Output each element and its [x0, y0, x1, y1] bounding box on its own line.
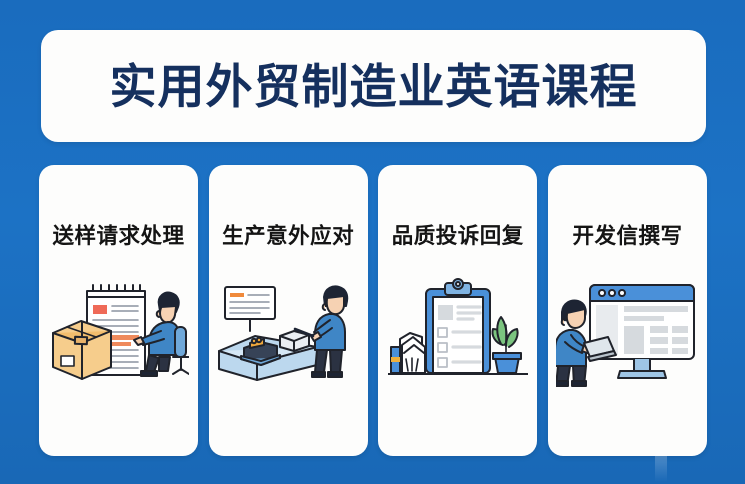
envelope-icon — [400, 333, 425, 373]
quality-complaint-illustration — [378, 273, 537, 388]
course-card-title: 开发信撰写 — [548, 219, 707, 250]
header-card: 实用外贸制造业英语课程 — [41, 30, 706, 142]
course-card-sample-request[interactable]: 送样请求处理 — [39, 165, 198, 456]
course-card-title: 生产意外应对 — [209, 219, 368, 250]
cardboard-box-icon — [53, 321, 111, 379]
clipboard-checklist-icon — [426, 279, 490, 373]
book-icon — [391, 347, 400, 373]
course-card-title: 品质投诉回复 — [378, 219, 537, 250]
sample-request-illustration — [39, 273, 198, 388]
page-title: 实用外贸制造业英语课程 — [110, 63, 638, 110]
course-module-list: 送样请求处理 — [39, 165, 707, 456]
watermark-artifact — [655, 452, 667, 482]
desktop-monitor-icon — [590, 285, 694, 378]
potted-plant-icon — [492, 317, 521, 373]
course-card-quality-complaint[interactable]: 品质投诉回复 — [378, 165, 537, 456]
production-incident-illustration — [209, 273, 368, 388]
course-card-production-incident[interactable]: 生产意外应对 — [209, 165, 368, 456]
course-card-cold-email[interactable]: 开发信撰写 — [548, 165, 707, 456]
whiteboard-icon — [225, 287, 275, 331]
poster-background: 实用外贸制造业英语课程 送样请求处理 — [0, 0, 745, 484]
cold-email-illustration — [548, 273, 707, 388]
course-card-title: 送样请求处理 — [39, 219, 198, 250]
